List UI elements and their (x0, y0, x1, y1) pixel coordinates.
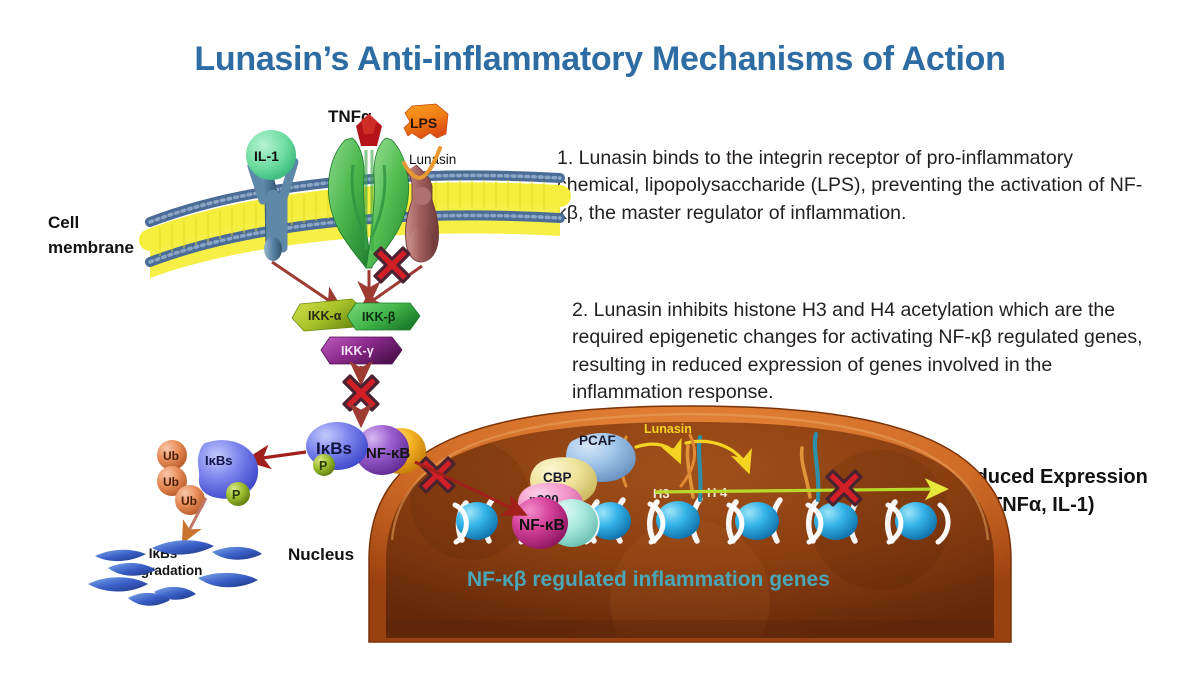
pcaf-label: PCAF (579, 433, 616, 448)
il1-label: IL-1 (254, 148, 279, 164)
phosphate-label: P (319, 459, 327, 473)
red-x-integrin-block (375, 248, 409, 282)
ub1-label: Ub (163, 449, 179, 463)
ikk-beta-label: IKK-β (362, 310, 396, 324)
ub3-label: Ub (181, 494, 197, 508)
ubiquitin-ikbs-label: IκBs (205, 453, 232, 468)
diagram-svg: H3 H 4 Lunasin PCAF CBP p300 NF-κB (0, 0, 1200, 674)
lps-label: LPS (410, 115, 437, 131)
ikk-gamma-label: IKK-γ (341, 344, 374, 358)
nfkb-nuclear-label: NF-κB (519, 517, 565, 534)
ikk-alpha-label: IKK-α (308, 309, 342, 323)
diagram-canvas: Lunasin’s Anti-inflammatory Mechanisms o… (0, 0, 1200, 674)
nucleus-genes-label: NF-κβ regulated inflammation genes (467, 568, 830, 591)
ikbs-ubiquitination-arrow (248, 452, 306, 460)
degradation-fragments (88, 540, 262, 606)
ikbs-nfkb-complex: IκBs NF-κB P (306, 422, 426, 476)
nfkb-cytoplasm-label: NF-κB (366, 445, 410, 462)
phosphate-ub-label: P (232, 488, 240, 502)
ikk-complex: IKK-α IKK-β IKK-γ (292, 299, 420, 364)
nucleus-body (369, 406, 1011, 674)
ubiquitinated-ikbs: IκBs Ub Ub Ub P (157, 440, 258, 540)
ub2-label: Ub (163, 475, 179, 489)
lunasin-nucleus-label: Lunasin (644, 422, 692, 436)
